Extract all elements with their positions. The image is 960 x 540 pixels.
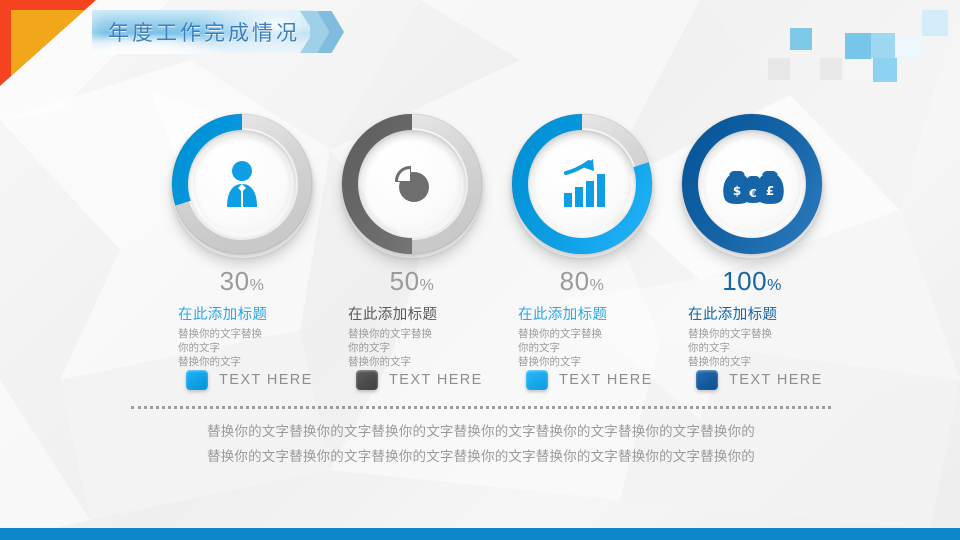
card-body-line: 替换你的文字替换 [178,327,332,341]
mosaic-square-8 [845,33,871,59]
mosaic-square-10 [922,10,948,36]
metric-card-2[interactable]: 50%在此添加标题替换你的文字替换你的文字替换你的文字 [322,108,502,369]
corner-ribbon-decoration [0,0,96,86]
gauge-inner-disc: $€£ [703,135,801,233]
mosaic-square-2 [870,33,895,58]
card-body-line: 替换你的文字替换 [688,327,842,341]
mosaic-square-7 [873,58,897,82]
footer-line-1: 替换你的文字替换你的文字替换你的文字替换你的文字替换你的文字替换你的文字替换你的 [131,420,831,445]
card-body-line: 你的文字 [688,341,842,355]
legend-swatch-1 [186,370,208,390]
pie-chart-icon [380,157,444,211]
card-body-line: 替换你的文字 [688,355,842,369]
percent-number: 100 [722,266,767,296]
percent-symbol: % [250,277,265,294]
svg-text:$: $ [733,184,741,198]
donut-gauge-1[interactable] [166,108,318,260]
mosaic-square-1 [790,28,812,50]
legend-item-3[interactable]: TEXT HERE [526,370,653,390]
card-body-line: 你的文字 [518,341,672,355]
mosaic-square-3 [768,58,790,80]
gauge-inner-disc [533,135,631,233]
metric-card-4[interactable]: $€£100%在此添加标题替换你的文字替换你的文字替换你的文字 [662,108,842,369]
slide-canvas: 年度工作完成情况 30%在此添加标题替换你的文字替换你的文字替换你的文字50%在… [0,0,960,540]
legend-label-3: TEXT HERE [559,372,653,388]
corner-inner-triangle [11,10,85,76]
mosaic-square-9 [897,35,922,60]
mosaic-decoration [760,0,960,80]
person-icon [210,157,274,211]
donut-gauge-4[interactable]: $€£ [676,108,828,260]
percent-symbol: % [420,277,435,294]
mosaic-square-5 [820,58,842,80]
double-chevron-icon [300,10,344,54]
metric-card-1[interactable]: 30%在此添加标题替换你的文字替换你的文字替换你的文字 [152,108,332,369]
card-body-line: 替换你的文字替换 [518,327,672,341]
card-title-3: 在此添加标题 [492,303,672,324]
legend-item-2[interactable]: TEXT HERE [356,370,483,390]
gauge-inner-disc [193,135,291,233]
percent-number: 50 [390,266,420,296]
percent-value-3: 80% [492,268,672,294]
card-body-line: 替换你的文字 [518,355,672,369]
svg-text:€: € [748,187,757,200]
mosaic-square-6 [845,60,871,86]
card-body-line: 你的文字 [348,341,502,355]
legend-swatch-3 [526,370,548,390]
donut-gauge-2[interactable] [336,108,488,260]
donut-gauge-3[interactable] [506,108,658,260]
money-bags-icon: $€£ [720,157,784,211]
footer-paragraph: 替换你的文字替换你的文字替换你的文字替换你的文字替换你的文字替换你的文字替换你的… [131,420,831,470]
gauge-inner-disc [363,135,461,233]
card-body-2: 替换你的文字替换你的文字替换你的文字 [322,327,502,369]
percent-symbol: % [767,277,782,294]
card-body-line: 替换你的文字 [178,355,332,369]
percent-symbol: % [590,277,605,294]
card-body-line: 替换你的文字 [348,355,502,369]
legend-label-1: TEXT HERE [219,372,313,388]
card-body-3: 替换你的文字替换你的文字替换你的文字 [492,327,672,369]
legend-row: TEXT HERETEXT HERETEXT HERETEXT HERE [0,370,960,398]
percent-number: 30 [220,266,250,296]
footer-line-2: 替换你的文字替换你的文字替换你的文字替换你的文字替换你的文字替换你的文字替换你的 [131,445,831,470]
page-title: 年度工作完成情况 [108,17,300,47]
percent-value-1: 30% [152,268,332,294]
legend-item-1[interactable]: TEXT HERE [186,370,313,390]
percent-value-4: 100% [662,268,842,294]
dotted-divider [131,406,831,409]
card-title-2: 在此添加标题 [322,303,502,324]
bar-chart-growth-icon [550,157,614,211]
card-body-4: 替换你的文字替换你的文字替换你的文字 [662,327,842,369]
card-body-line: 你的文字 [178,341,332,355]
bottom-accent-bar [0,528,960,540]
legend-swatch-4 [696,370,718,390]
svg-text:£: £ [766,184,774,198]
card-title-1: 在此添加标题 [152,303,332,324]
card-title-4: 在此添加标题 [662,303,842,324]
legend-swatch-2 [356,370,378,390]
metric-card-3[interactable]: 80%在此添加标题替换你的文字替换你的文字替换你的文字 [492,108,672,369]
legend-label-4: TEXT HERE [729,372,823,388]
card-body-line: 替换你的文字替换 [348,327,502,341]
legend-item-4[interactable]: TEXT HERE [696,370,823,390]
card-body-1: 替换你的文字替换你的文字替换你的文字 [152,327,332,369]
percent-number: 80 [560,266,590,296]
legend-label-2: TEXT HERE [389,372,483,388]
title-banner: 年度工作完成情况 [92,10,314,54]
percent-value-2: 50% [322,268,502,294]
